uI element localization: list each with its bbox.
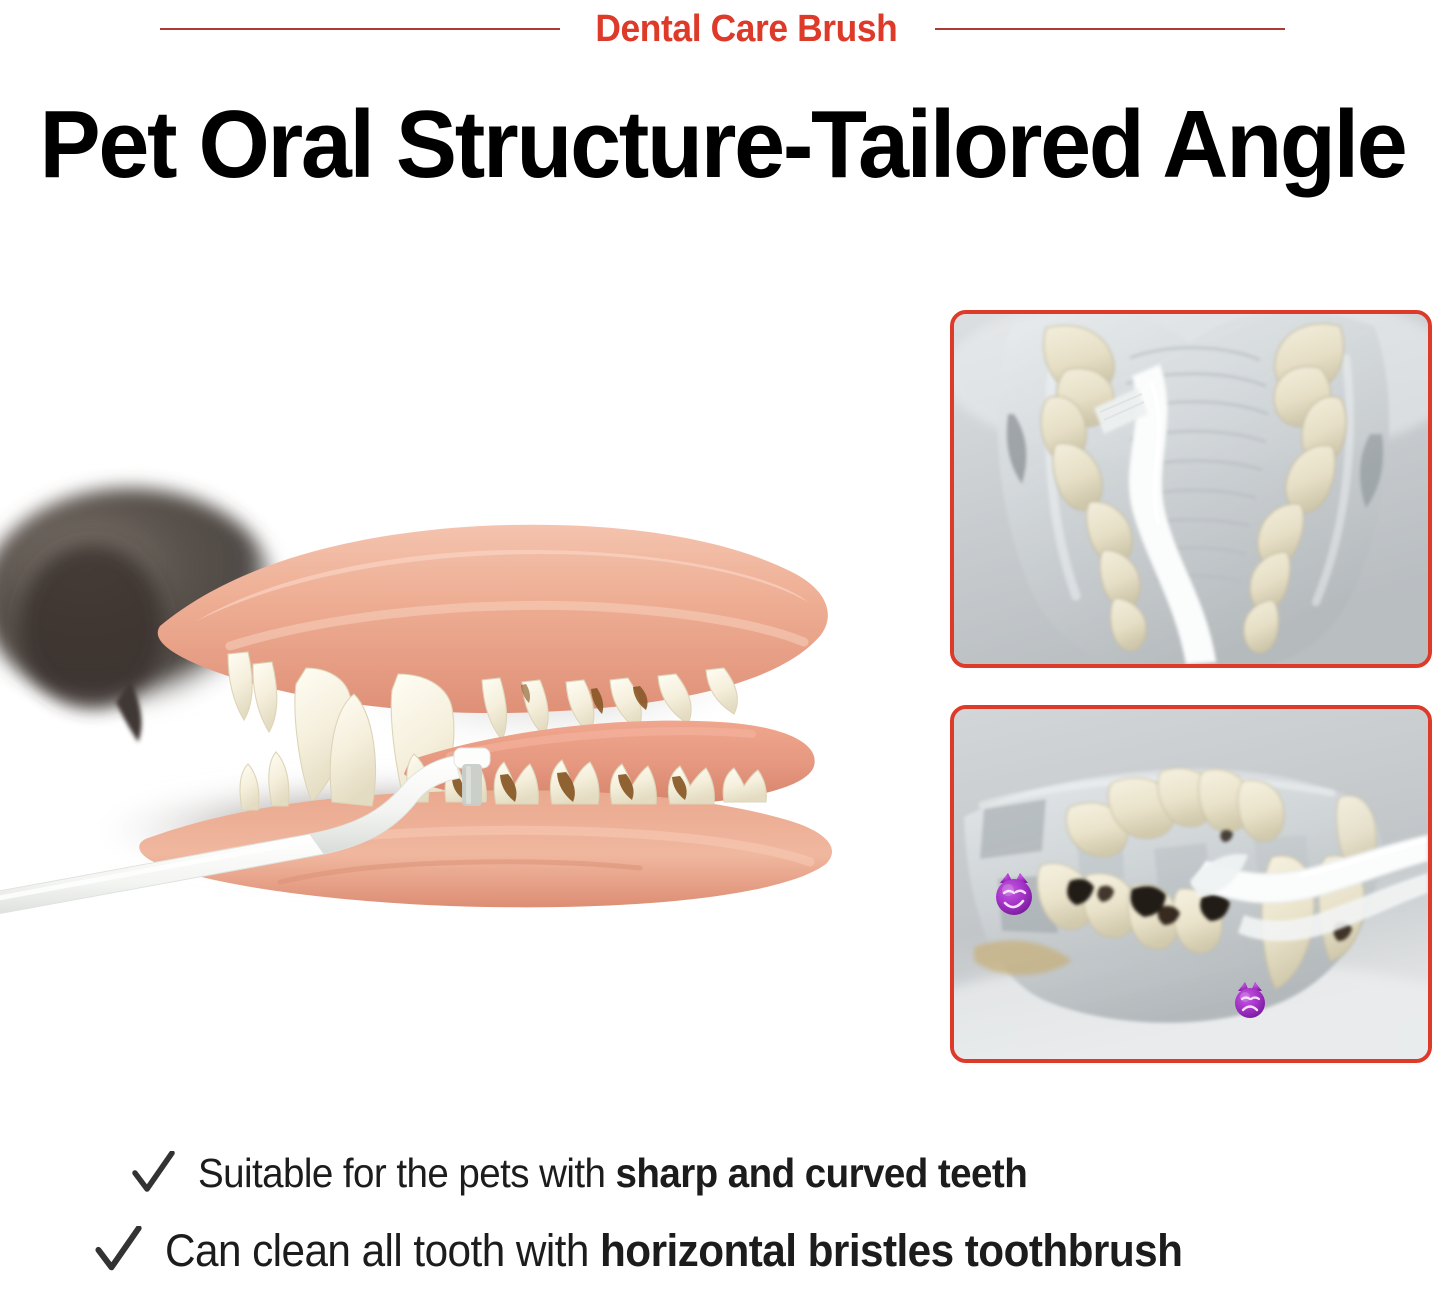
dog-mouth-illustration — [0, 430, 900, 930]
list-item: Suitable for the pets with sharp and cur… — [0, 1150, 1445, 1197]
feature-bullet-list: Suitable for the pets with sharp and cur… — [0, 1150, 1445, 1277]
eyebrow-rule-right — [935, 28, 1285, 30]
dental-model-photo-top[interactable] — [950, 310, 1432, 668]
eyebrow-label: Dental Care Brush — [595, 10, 897, 48]
bullet-lead: Can clean all tooth with — [165, 1225, 600, 1276]
bullet-strong: sharp and curved teeth — [616, 1150, 1028, 1196]
bullet-text: Suitable for the pets with sharp and cur… — [198, 1150, 1027, 1197]
dental-model-photo-side[interactable] — [950, 705, 1432, 1063]
bullet-strong: horizontal bristles toothbrush — [600, 1225, 1182, 1276]
product-feature-page: Dental Care Brush Pet Oral Structure-Tai… — [0, 0, 1445, 1297]
eyebrow-rule-left — [160, 28, 560, 30]
bullet-lead: Suitable for the pets with — [198, 1150, 616, 1196]
eyebrow-header: Dental Care Brush — [0, 6, 1445, 52]
bullet-text: Can clean all tooth with horizontal bris… — [165, 1225, 1182, 1277]
checkmark-icon — [93, 1226, 143, 1276]
page-title: Pet Oral Structure-Tailored Angle — [33, 96, 1413, 194]
list-item: Can clean all tooth with horizontal bris… — [0, 1225, 1445, 1277]
checkmark-icon — [130, 1151, 176, 1197]
brush-bristles — [462, 764, 482, 806]
